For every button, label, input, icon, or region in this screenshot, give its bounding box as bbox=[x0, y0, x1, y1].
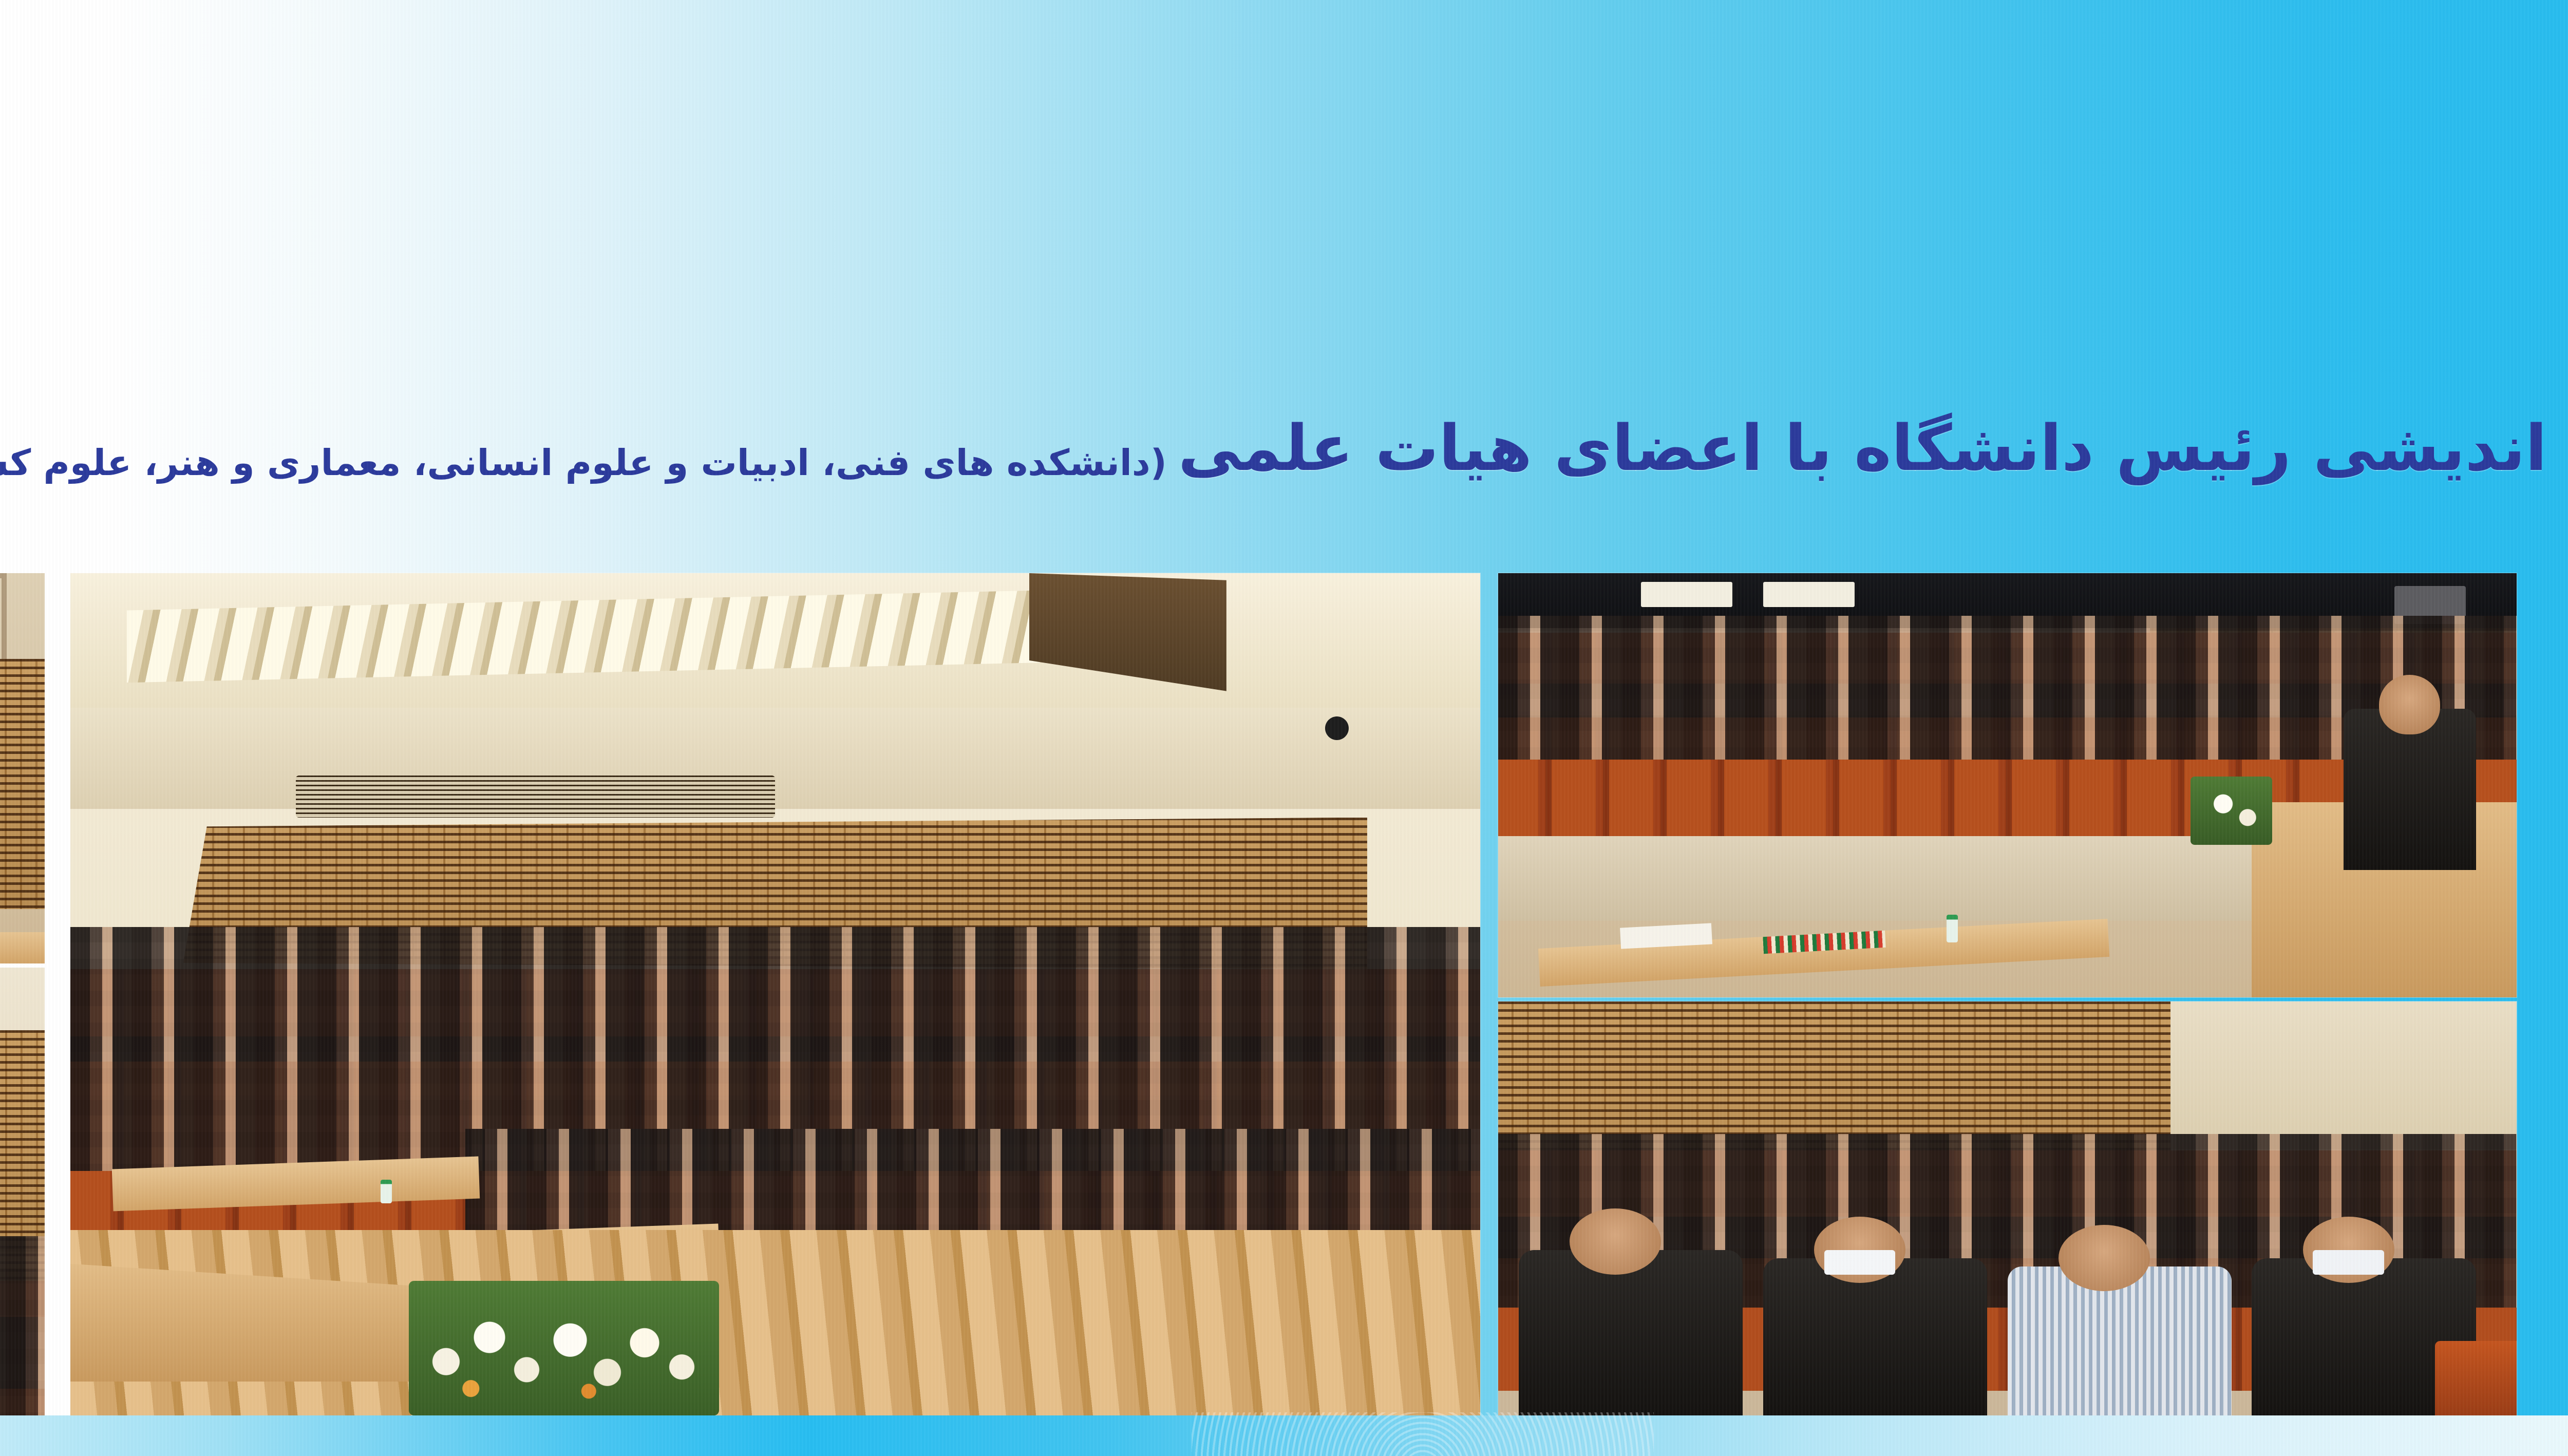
bottom-ripple-decoration bbox=[1192, 1412, 1654, 1456]
collage-photo-center bbox=[70, 573, 1480, 1415]
collage-photo-right-top bbox=[1498, 573, 2517, 997]
poster-canvas: دانشگاه گیلان روابط عمومی دانشگاه گیلان … bbox=[0, 0, 2568, 1456]
poster-title: نشست هم اندیشی رئیس دانشگاه با اعضای هیا… bbox=[0, 414, 2481, 542]
collage-photo-left-top bbox=[0, 573, 45, 963]
poster-header: دانشگاه گیلان روابط عمومی دانشگاه گیلان … bbox=[0, 0, 2568, 560]
poster-title-main: نشست هم اندیشی رئیس دانشگاه با اعضای هیا… bbox=[1178, 414, 2568, 483]
photo-collage bbox=[0, 573, 2568, 1415]
poster-title-parenthetical: (دانشکده های فنی، ادبیات و علوم انسانی، … bbox=[0, 441, 1167, 486]
collage-photo-right-bottom bbox=[1498, 1001, 2517, 1415]
poster-bottom-strip bbox=[0, 1415, 2568, 1456]
poster-title-line: نشست هم اندیشی رئیس دانشگاه با اعضای هیا… bbox=[0, 414, 2568, 483]
collage-photo-left-bottom bbox=[0, 968, 45, 1415]
